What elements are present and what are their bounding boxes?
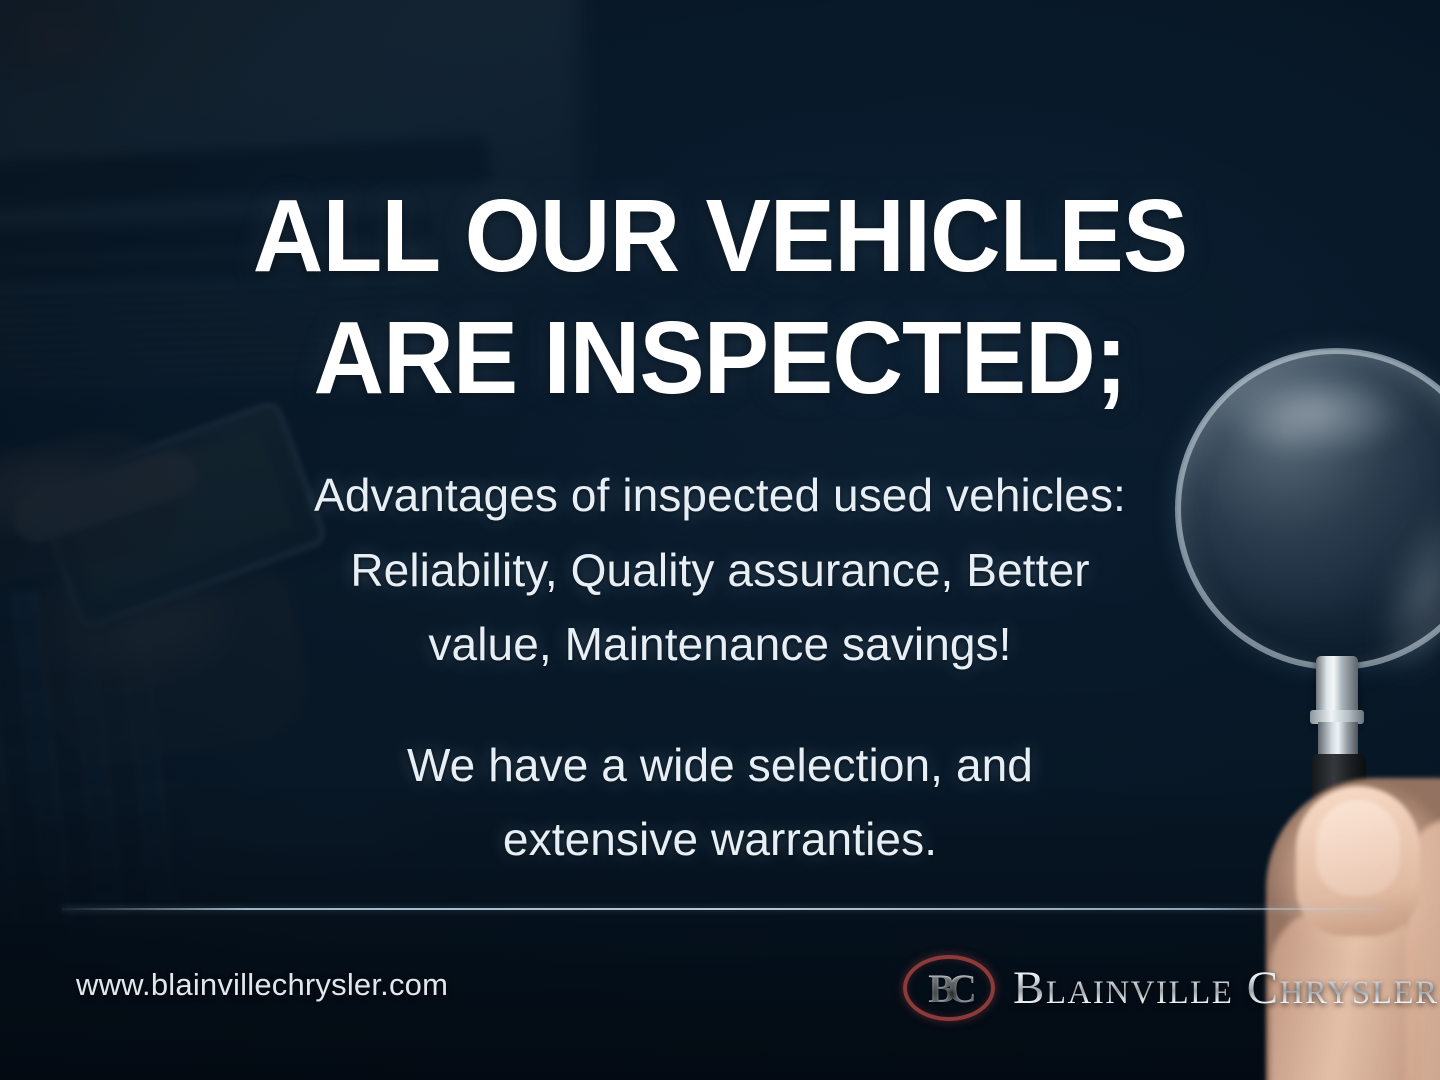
logo-monogram-text: BC [903, 955, 995, 1021]
body-copy: Advantages of inspected used vehicles: R… [0, 412, 1440, 923]
dealership-logo[interactable]: BC Blainville Chrysler [903, 955, 1439, 1021]
website-url[interactable]: www.blainvillechrysler.com [76, 967, 448, 1003]
logo-monogram-mark: BC [903, 955, 995, 1021]
footer-divider [62, 908, 1382, 910]
logo-wordmark: Blainville Chrysler [1013, 961, 1439, 1015]
page-title: ALL OUR VEHICLES ARE INSPECTED; [36, 175, 1404, 418]
selection-warranties-paragraph: We have a wide selection, and extensive … [0, 728, 1440, 877]
advantages-paragraph: Advantages of inspected used vehicles: R… [0, 458, 1440, 682]
slide-canvas: ALL OUR VEHICLES ARE INSPECTED; Advantag… [0, 0, 1440, 1080]
